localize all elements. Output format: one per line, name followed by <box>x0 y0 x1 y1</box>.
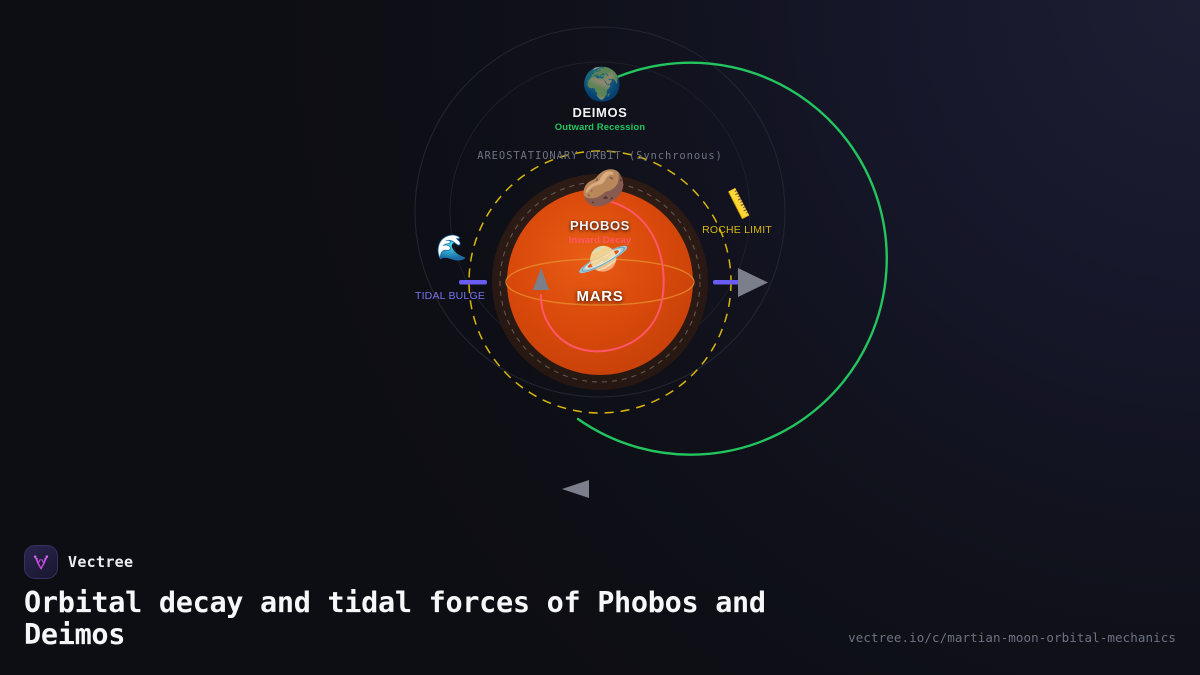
page-title: Orbital decay and tidal forces of Phobos… <box>24 587 814 651</box>
brand-name: Vectree <box>68 553 133 571</box>
mars-label: MARS <box>500 288 700 305</box>
deimos-label-group: DEIMOS Outward Recession <box>500 106 700 134</box>
deimos-name: DEIMOS <box>500 106 700 121</box>
vectree-logo-icon <box>24 545 58 579</box>
deimos-orbit-arrow-icon <box>562 480 589 498</box>
orbital-diagram: 🌍 🥔 🪐 🌊 📏 DEIMOS Outward Recession PHOBO… <box>0 0 1200 520</box>
tidal-torque-bar-right <box>713 280 741 285</box>
roche-limit-label: ROCHE LIMIT <box>657 224 817 236</box>
outward-torque-arrow-icon <box>738 268 768 297</box>
areostationary-orbit-label: AREOSTATIONARY ORBIT (Synchronous) <box>400 150 800 162</box>
footer: Vectree Orbital decay and tidal forces o… <box>0 530 1200 675</box>
deimos-moon-icon: 🌍 <box>582 68 616 100</box>
wave-icon: 🌊 <box>436 236 464 261</box>
tidal-bulge-label: TIDAL BULGE <box>370 290 530 302</box>
screenshot-root: 🌍 🥔 🪐 🌊 📏 DEIMOS Outward Recession PHOBO… <box>0 0 1200 675</box>
phobos-potato-icon: 🥔 <box>581 170 619 206</box>
mars-halo <box>507 189 693 375</box>
brand-block: Vectree <box>24 545 133 579</box>
source-url: vectree.io/c/martian-moon-orbital-mechan… <box>848 630 1176 645</box>
deimos-status: Outward Recession <box>500 123 700 134</box>
tidal-bulge-bar-left <box>459 280 487 285</box>
phobos-status: Inward Decay <box>500 236 700 247</box>
